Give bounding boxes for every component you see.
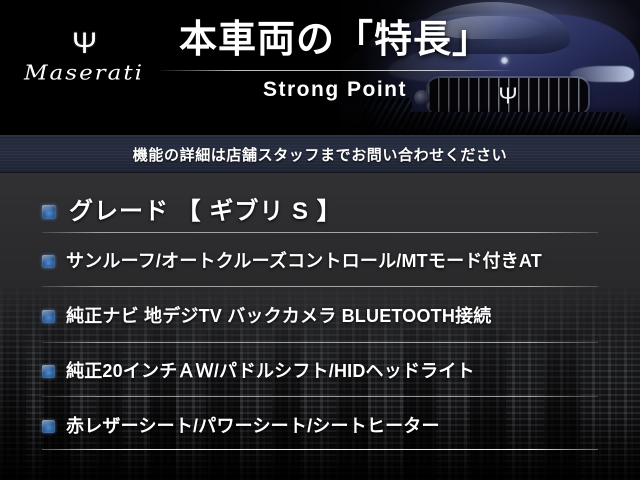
feature-list: グレード 【 ギブリ S 】 サンルーフ/オートクルーズコントロール/MTモード… (0, 173, 640, 480)
list-item: グレード 【 ギブリ S 】 (42, 196, 598, 228)
header-banner: Ψ Ψ Maserati 本車両の「特長」 Strong Point (0, 0, 640, 135)
page-title: 本車両の「特長」 (160, 14, 510, 66)
blue-square-bullet-icon (42, 420, 55, 433)
list-divider (42, 286, 598, 287)
title-block: 本車両の「特長」 Strong Point (160, 14, 510, 103)
blue-square-bullet-icon (42, 310, 55, 323)
brand-logo: Ψ Maserati (14, 30, 154, 86)
list-divider (42, 396, 598, 397)
feature-text: 赤レザーシート/パワーシート/シートヒーター (66, 414, 440, 438)
blue-square-bullet-icon (42, 255, 55, 268)
page-subtitle: Strong Point (160, 77, 510, 103)
blue-square-bullet-icon (42, 365, 55, 378)
feature-text: サンルーフ/オートクルーズコントロール/MTモード付きAT (66, 249, 542, 273)
feature-text: 純正ナビ 地デジTV バックカメラ BLUETOOTH接続 (66, 304, 491, 328)
feature-list-section: グレード 【 ギブリ S 】 サンルーフ/オートクルーズコントロール/MTモード… (0, 173, 640, 480)
blue-square-bullet-icon (42, 205, 56, 219)
list-item: 純正20インチＡＷ/パドルシフト/HIDヘッドライト (42, 359, 598, 383)
maserati-trident-icon: Ψ (14, 30, 154, 58)
title-divider (160, 70, 510, 71)
list-item: 純正ナビ 地デジTV バックカメラ BLUETOOTH接続 (42, 304, 598, 328)
list-divider-bottom (42, 449, 598, 450)
list-divider (42, 342, 598, 343)
notice-text: 機能の詳細は店舗スタッフまでお問い合わせください (133, 144, 507, 165)
header-bottom-fade (0, 105, 640, 135)
list-divider (42, 232, 598, 233)
feature-text: 純正20インチＡＷ/パドルシフト/HIDヘッドライト (66, 359, 475, 383)
notice-band: 機能の詳細は店舗スタッフまでお問い合わせください (0, 135, 640, 173)
brand-wordmark: Maserati (14, 61, 154, 84)
list-item: サンルーフ/オートクルーズコントロール/MTモード付きAT (42, 249, 598, 273)
feature-text: グレード 【 ギブリ S 】 (69, 196, 342, 228)
feature-highlight-page: Ψ Ψ Maserati 本車両の「特長」 Strong Point 機能の詳細… (0, 0, 640, 480)
list-item: 赤レザーシート/パワーシート/シートヒーター (42, 414, 598, 438)
